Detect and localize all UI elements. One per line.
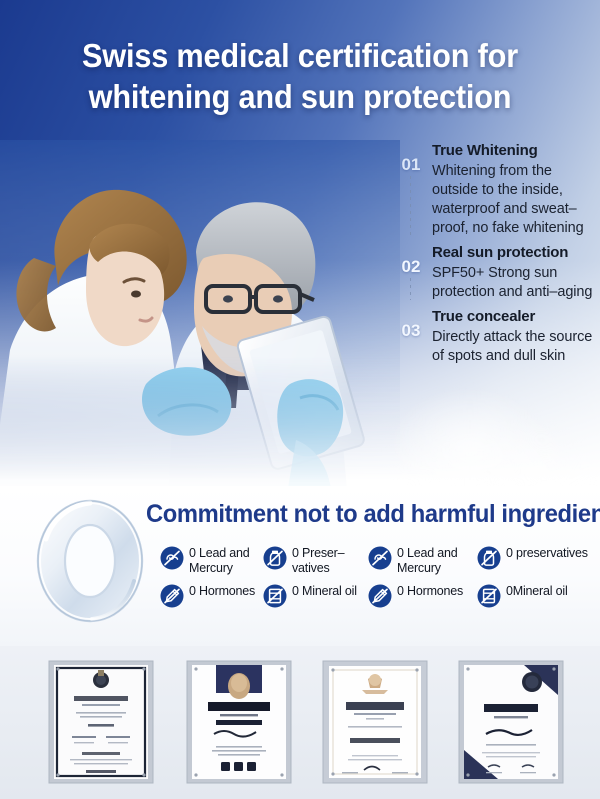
no-lead-mercury-icon [160,546,184,570]
feature-title: Real sun protection [432,244,598,263]
feature-connector [410,278,411,300]
headline-line-2: whitening and sun protection [21,77,579,118]
badge-no-hormones: 0 Hormones [368,583,477,608]
badge-label: 0 Preser–vatives [292,545,368,577]
lab-scientists-photo [0,140,400,500]
feature-list: 01 True Whitening Whitening from the out… [398,142,598,372]
feature-body: Whitening from the outside to the inside… [432,162,598,239]
no-hormones-icon [160,584,184,608]
badge-label: 0 preservatives [506,545,588,561]
feature-title: True concealer [432,308,598,327]
feature-item-01: 01 True Whitening Whitening from the out… [398,142,598,238]
feature-body: SPF50+ Strong sun protection and anti–ag… [432,264,598,302]
certificate-gallery [0,646,600,799]
feature-item-03: 03 True concealer Directly attack the so… [398,308,598,366]
feature-number: 03 [394,317,428,345]
badge-label: 0 Hormones [189,583,255,599]
feature-number: 01 [394,151,428,179]
badge-no-mineral-oil: 0 Mineral oil [263,583,368,608]
no-preservatives-icon [477,546,501,570]
promo-poster: Swiss medical certification for whitenin… [0,0,600,799]
no-mineral-oil-icon [477,584,501,608]
badge-label: 0Mineral oil [506,583,568,599]
feature-item-02: 02 Real sun protection SPF50+ Strong sun… [398,244,598,302]
feature-number: 02 [394,253,428,281]
feature-title: True Whitening [432,142,598,161]
badge-label: 0 Lead and Mercury [397,545,477,577]
page-title: Swiss medical certification for whitenin… [21,36,579,118]
badge-label: 0 Lead and Mercury [189,545,263,577]
commitment-title: Commitment not to add harmful ingredient… [146,500,572,529]
badge-label: 0 Mineral oil [292,583,357,599]
certificate-2 [186,660,292,784]
badge-no-lead-mercury: 0 Lead and Mercury [160,545,263,577]
badge-no-lead-mercury: 0 Lead and Mercury [368,545,477,577]
headline-line-1: Swiss medical certification for [21,36,579,77]
certificate-4 [458,660,564,784]
badge-no-preservatives: 0 preservatives [477,545,596,577]
no-lead-mercury-icon [368,546,392,570]
badge-no-preservatives: 0 Preser–vatives [263,545,368,577]
badge-label: 0 Hormones [397,583,463,599]
feature-connector [410,176,411,236]
no-hormones-icon [368,584,392,608]
ingredient-badge-grid: 0 Lead and Mercury 0 Preser–vatives 0 Le… [160,545,596,608]
zero-glyph-graphic [30,497,150,625]
no-preservatives-icon [263,546,287,570]
no-mineral-oil-icon [263,584,287,608]
badge-no-hormones: 0 Hormones [160,583,263,608]
certificate-3 [322,660,428,784]
certificate-1 [48,660,154,784]
feature-body: Directly attack the source of spots and … [432,328,598,366]
badge-no-mineral-oil: 0Mineral oil [477,583,596,608]
